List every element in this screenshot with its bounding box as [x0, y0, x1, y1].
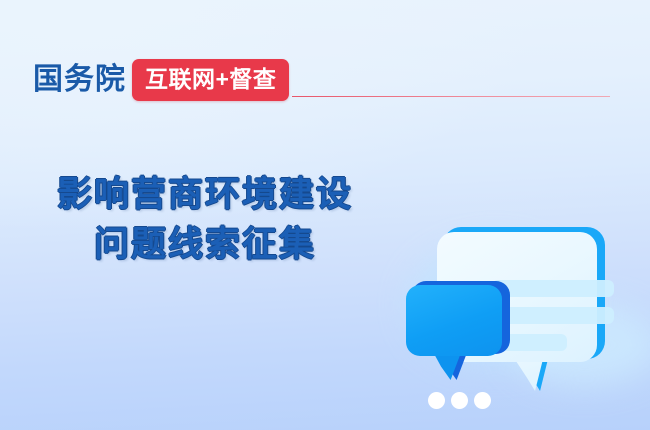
typing-dot-3: [474, 392, 491, 409]
internet-plus-supervision-badge: 互联网+督查: [132, 59, 289, 101]
small-speech-bubble-icon: [406, 285, 502, 356]
promo-banner: 国务院 互联网+督查 影响营商环境建设 问题线索征集: [0, 0, 650, 430]
banner-title: 影响营商环境建设 问题线索征集: [0, 170, 410, 270]
banner-header: 国务院 互联网+督查: [33, 60, 289, 100]
header-divider-rule: [292, 96, 610, 97]
typing-dot-2: [451, 392, 468, 409]
bubble-content-bar-1: [492, 280, 614, 297]
bubble-content-bar-2: [492, 307, 614, 324]
chat-bubbles-illustration: [400, 205, 650, 405]
title-line-1: 影响营商环境建设: [0, 170, 410, 220]
title-line-2: 问题线索征集: [0, 220, 410, 270]
government-council-label: 国务院: [33, 65, 126, 95]
typing-dot-1: [428, 392, 445, 409]
